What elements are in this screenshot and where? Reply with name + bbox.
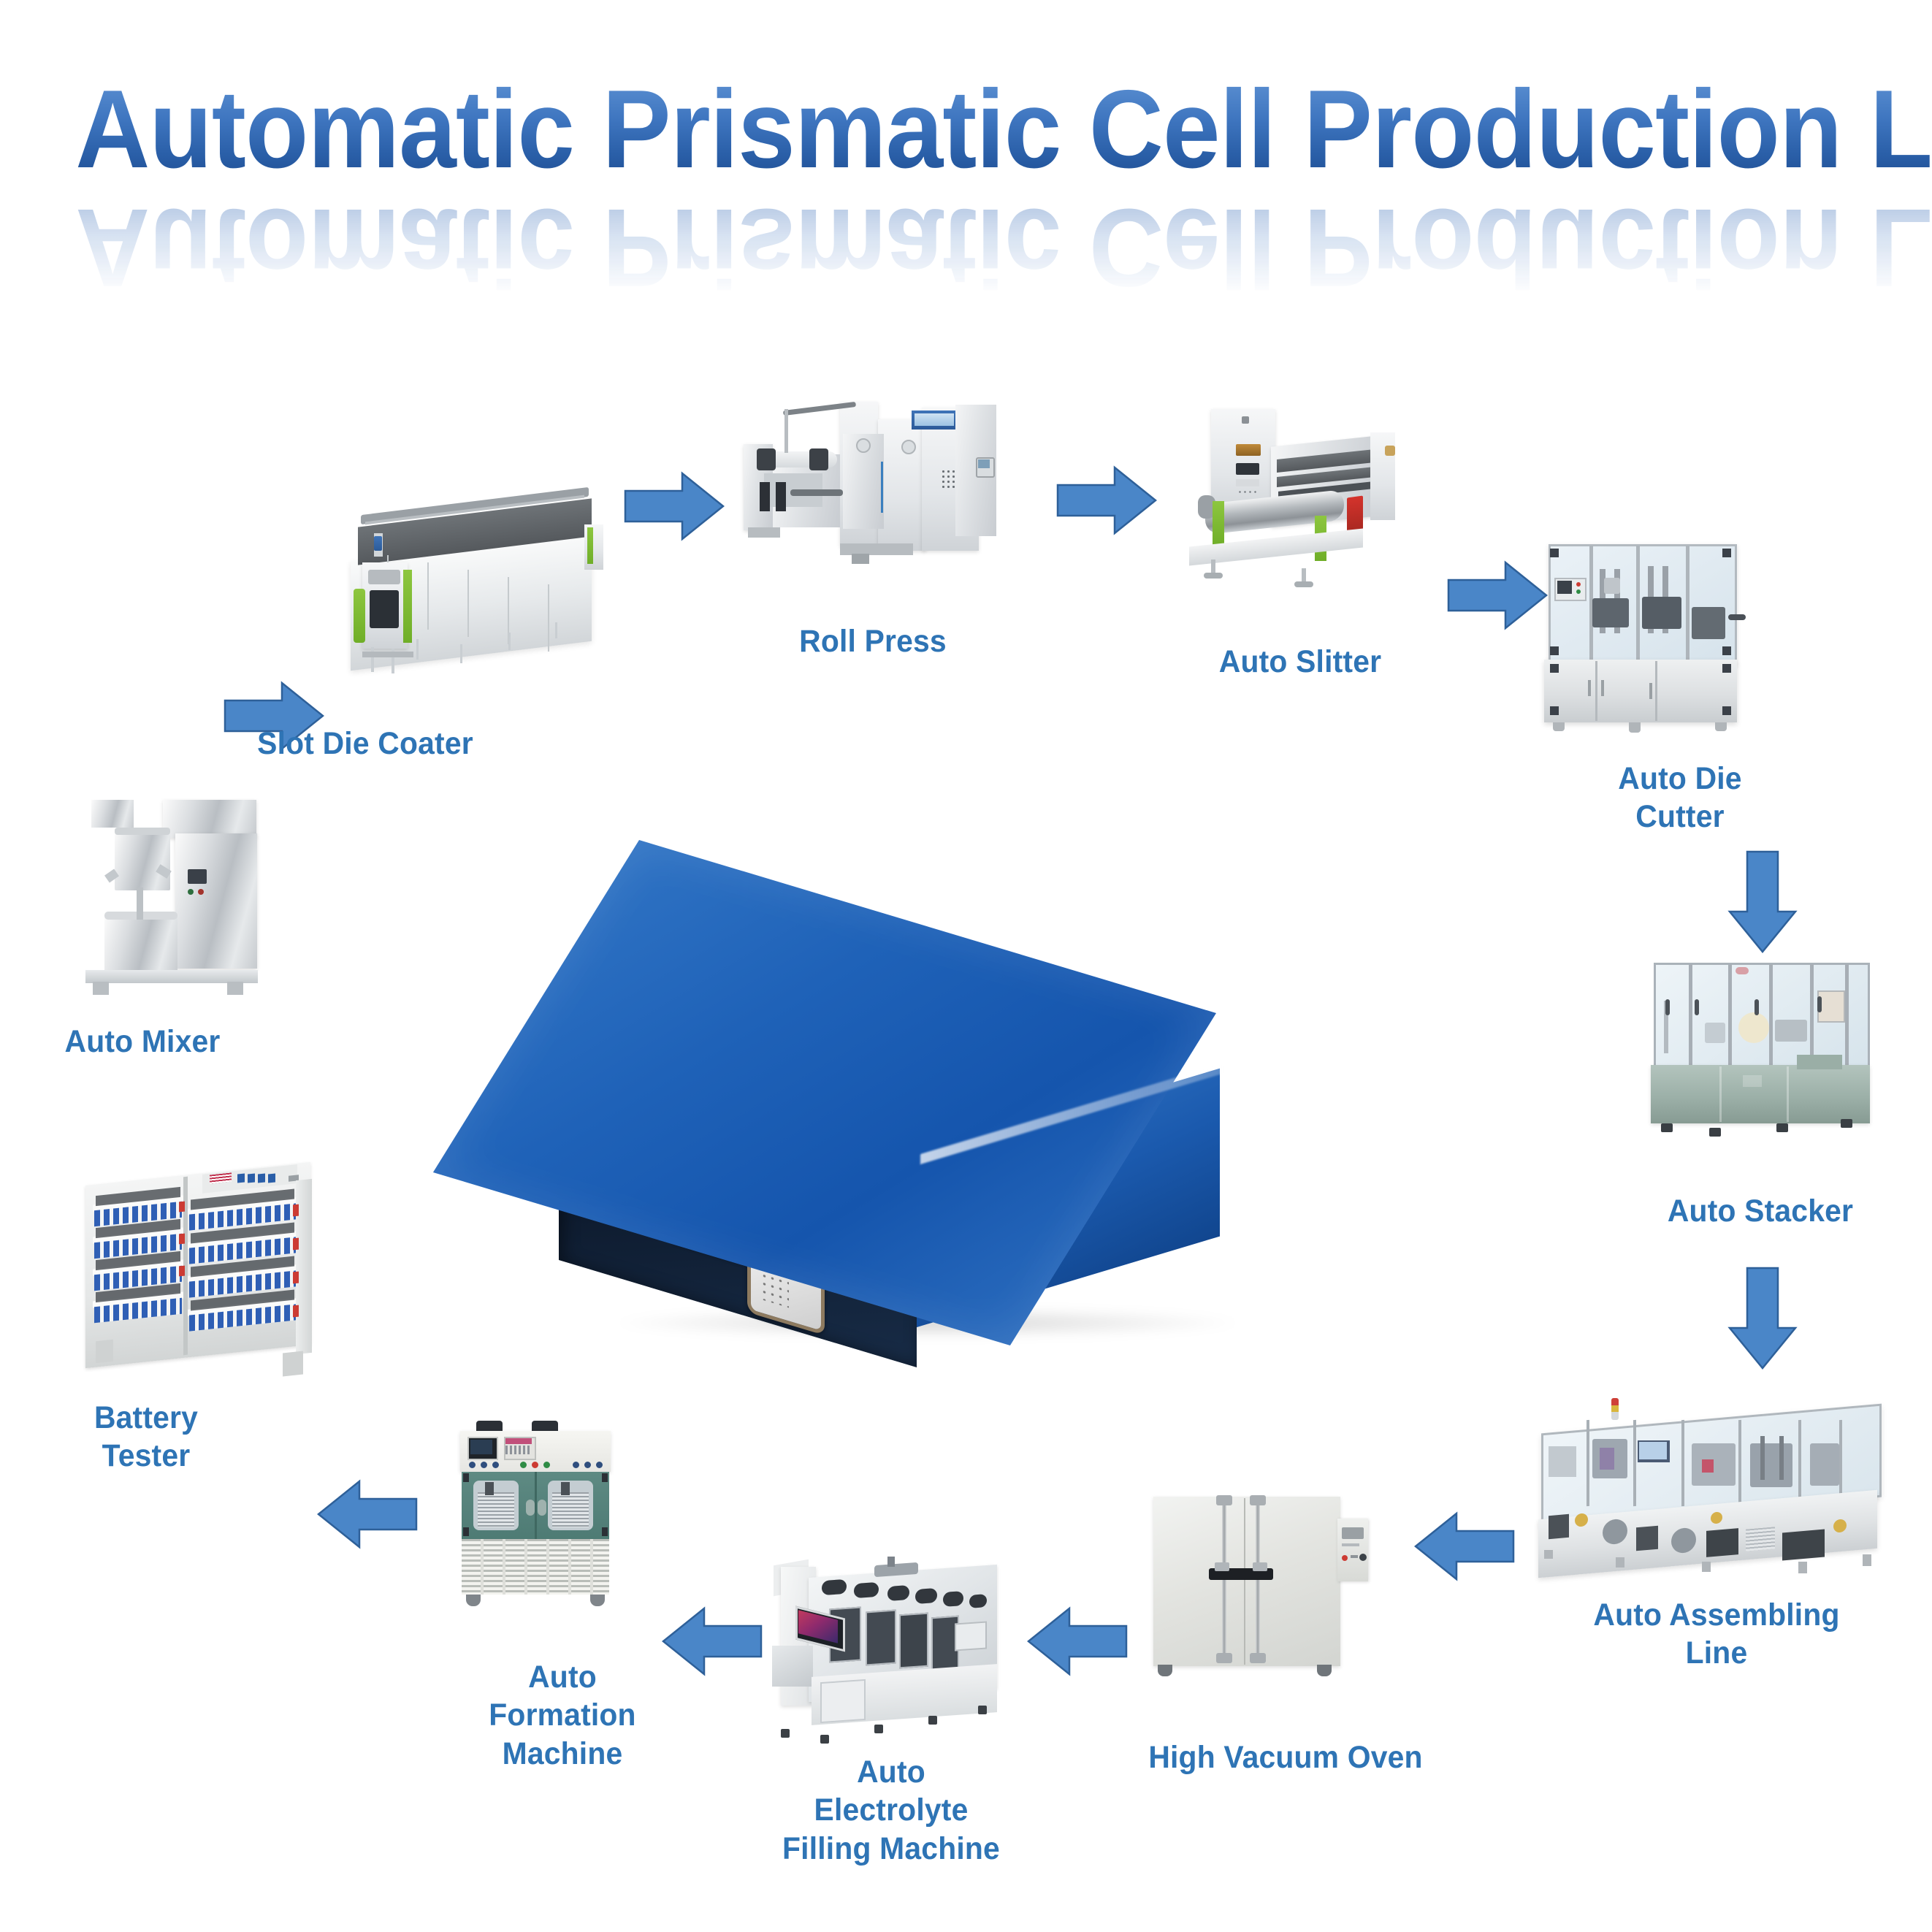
arrow-to-oven: [1410, 1506, 1519, 1587]
arrow-to-stacker: [1722, 847, 1806, 957]
label-auto-die-cutter: Auto Die Cutter: [1555, 760, 1805, 836]
label-high-vacuum-oven: High Vacuum Oven: [1133, 1738, 1438, 1776]
label-auto-slitter: Auto Slitter: [1169, 643, 1432, 681]
arrow-to-rollpress: [619, 466, 729, 546]
machine-image-battery-tester: [77, 1158, 332, 1391]
label-auto-electrolyte-filling: Auto Electrolyte Filling Machine: [738, 1753, 1044, 1868]
machine-image-auto-die-cutter: [1541, 537, 1753, 749]
arrow-to-diecutter: [1443, 555, 1552, 635]
arrow-to-slitter: [1052, 460, 1161, 541]
label-auto-formation-machine: Auto Formation Machine: [438, 1658, 687, 1773]
prismatic-battery-cell: 53074: [511, 840, 1388, 1366]
label-auto-stacker: Auto Stacker: [1615, 1192, 1906, 1230]
diagram-canvas: Automatic Prismatic Cell Production Line…: [0, 0, 1932, 1932]
machine-image-auto-slitter: [1169, 387, 1410, 606]
machine-image-auto-mixer: [77, 793, 270, 1015]
label-auto-assembling-line: Auto Assembling Line: [1536, 1596, 1897, 1673]
label-auto-mixer: Auto Mixer: [21, 1023, 264, 1061]
arrow-to-filling: [1023, 1601, 1132, 1681]
label-slot-die-coater: Slot Die Coater: [234, 725, 497, 763]
arrow-to-tester: [313, 1474, 422, 1554]
page-title: Automatic Prismatic Cell Production Line…: [0, 73, 1932, 304]
machine-image-auto-formation-machine: [453, 1421, 635, 1640]
machine-image-high-vacuum-oven: [1150, 1486, 1384, 1706]
title-reflection-text: Automatic Prismatic Cell Production Line: [75, 191, 1932, 304]
machine-image-auto-stacker: [1643, 950, 1892, 1161]
label-battery-tester: Battery Tester: [21, 1399, 271, 1475]
title-main-text: Automatic Prismatic Cell Production Line: [75, 73, 1932, 186]
label-roll-press: Roll Press: [738, 622, 1009, 660]
arrow-to-assembling: [1722, 1264, 1806, 1373]
machine-image-auto-assembling-line: [1519, 1373, 1906, 1592]
machine-image-roll-press: [730, 387, 1015, 592]
machine-image-auto-electrolyte-filling: [763, 1552, 1019, 1764]
machine-image-slot-die-coater: [336, 460, 628, 694]
